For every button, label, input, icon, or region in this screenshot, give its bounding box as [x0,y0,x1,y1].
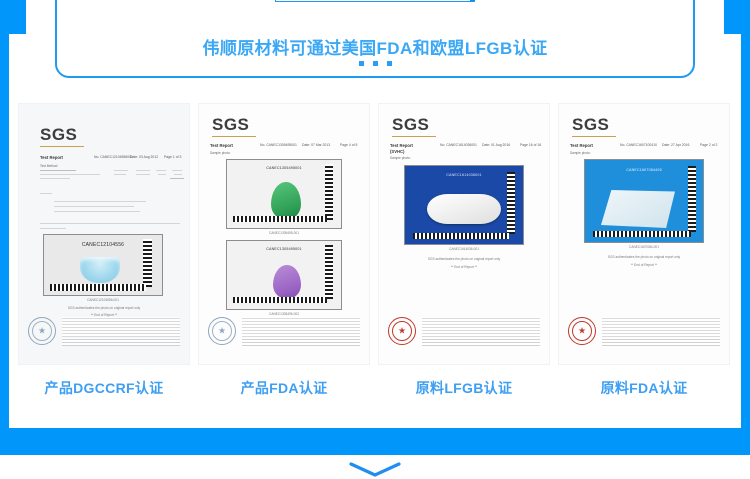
certificate-card[interactable]: SGS Test Report No. CANEC1305495001 Date… [198,103,370,365]
sample-photo-caption: CANEC12104556-001 [43,298,163,302]
footer-contact-block [242,338,360,346]
report-page: Page 2 of 2 [700,143,717,147]
seal-stamp-icon: ★ [568,317,596,345]
report-date: Date: 07 Mar 2013 [302,143,330,147]
text-line [156,170,166,171]
report-subtitle: Test Method [40,164,57,168]
dot-icon [359,61,364,66]
text-line [40,174,100,175]
sample-photo: CANEC1305495001 [226,159,342,229]
sample-photo: CANEC1607084405 [584,159,704,243]
end-of-report-note: ** End of Report ** [558,263,730,267]
report-subtitle: Sample photo: [210,151,231,155]
dot-icon [373,61,378,66]
text-line [172,170,182,171]
sgs-logo: SGS [40,125,77,145]
banner-title-box: 权威机构认证 [275,0,475,2]
report-number: No. CANEC12104556001 [94,155,133,159]
report-date: Date: 03 Aug 2012 [130,155,158,159]
certificate-footer-strip: ★ [388,315,540,349]
product-sheet-shape [601,190,675,228]
authentication-note: SGS authenticates the photo on original … [378,257,550,261]
sample-photo-secondary: CANEC1305495001 [226,240,342,310]
footer-text-block [62,317,180,337]
ruler-horizontal [593,231,691,237]
certificate-card[interactable]: SGS Test Report No. CANEC12104556001 Dat… [18,103,190,365]
sgs-logo: SGS [212,115,249,135]
report-page: Page 4 of 5 [340,143,357,147]
text-line [136,174,150,175]
ruler-vertical [507,172,515,234]
sample-photo-caption: CANEC1614036-001 [404,247,524,251]
product-cone-shape-green [271,182,301,220]
seal-stamp-icon: ★ [388,317,416,345]
ruler-vertical [143,239,152,287]
ruler-horizontal [413,233,509,239]
text-line [114,174,126,175]
report-number: No. CANEC1305495001 [260,143,297,147]
sample-photo-caption: CANEC1305495-001 [226,231,342,235]
text-line [54,211,140,212]
authentication-note: SGS authenticates the photo on original … [18,306,190,310]
text-line [174,174,182,175]
report-date: Date: 27 Apr 2016 [662,143,689,147]
footer-contact-block [602,338,720,346]
ruler-horizontal [50,284,146,291]
sample-photo-caption: CANEC1607084-001 [584,245,704,249]
text-line [54,201,146,202]
seal-star-icon: ★ [218,327,226,336]
sample-photo-code-secondary: CANEC1305495001 [227,247,341,251]
text-line [114,170,128,171]
report-number: No. CANEC1614036001 [440,143,477,147]
certificate-footer-strip: ★ [568,315,720,349]
text-line [40,178,70,179]
report-number: No. CANEC1607100410 [620,143,657,147]
sgs-logo-underline [40,146,84,147]
banner-dots [0,61,750,66]
seal-stamp-icon: ★ [28,317,56,345]
seal-star-icon: ★ [398,327,406,336]
report-subtitle: Sample photo: [570,151,591,155]
seal-star-icon: ★ [38,327,46,336]
certificate-grid: SGS Test Report No. CANEC12104556001 Dat… [18,103,732,365]
ruler-vertical [325,164,333,220]
page-edge-left [0,0,9,455]
authentication-note: SGS authenticates the photo on original … [558,255,730,259]
text-line [40,228,66,229]
report-title-secondary: (SVHC) [390,149,404,155]
certificate-caption: 原料LFGB认证 [378,370,550,406]
top-banner: 权威机构认证 伟顺原材料可通过美国FDA和欧盟LFGB认证 [0,0,750,80]
text-line [136,170,150,171]
ruler-vertical [688,166,696,232]
ruler-vertical [325,245,333,299]
seal-stamp-icon: ★ [208,317,236,345]
sgs-logo-underline [572,136,616,137]
text-line [40,193,52,194]
report-subtitle: Sample photo: [390,156,411,160]
report-title: Test Report [570,143,593,149]
sample-photo: CANEC1614036001 [404,165,524,245]
bottom-accent-bar [0,428,750,455]
certificate-card[interactable]: SGS Test Report No. CANEC1607100410 Date… [558,103,730,365]
sgs-logo-underline [392,136,436,137]
text-line [158,174,166,175]
page-edge-right [741,0,750,455]
footer-contact-block [62,338,180,346]
banner-subtitle: 伟顺原材料可通过美国FDA和欧盟LFGB认证 [0,34,750,59]
ruler-horizontal [233,216,327,222]
text-line [40,223,180,224]
footer-text-block [242,317,360,337]
certificate-footer-strip: ★ [208,315,360,349]
sgs-logo: SGS [392,115,429,135]
footer-text-block [602,317,720,337]
report-page: Page 16 of 16 [520,143,541,147]
sgs-logo: SGS [572,115,609,135]
text-line [40,170,76,171]
certificate-caption: 原料FDA认证 [558,370,730,406]
certificate-caption: 产品DGCCRF认证 [18,370,190,406]
ruler-horizontal [233,297,327,303]
product-drop-shape-purple [273,265,301,299]
sample-photo-code: CANEC1614036001 [405,173,523,177]
certificate-caption: 产品FDA认证 [198,370,370,406]
certificate-caption-row: 产品DGCCRF认证 产品FDA认证 原料LFGB认证 原料FDA认证 [18,370,732,406]
report-page: Page 1 of 3 [164,155,181,159]
report-title: Test Report [210,143,233,149]
scroll-down-chevron-icon[interactable] [347,462,403,477]
end-of-report-note: ** End of Report ** [378,265,550,269]
product-pill-shape-white [427,194,501,224]
product-bowl-shape [80,257,120,283]
certificate-card[interactable]: SGS Test Report (SVHC) No. CANEC16140360… [378,103,550,365]
sgs-logo-underline [212,136,256,137]
report-date: Date: 01 Aug 2016 [482,143,510,147]
report-title: Test Report [40,155,63,161]
sample-photo-code: CANEC1305495001 [227,166,341,170]
seal-star-icon: ★ [578,327,586,336]
footer-text-block [422,317,540,337]
sample-photo-code: CANEC1607084405 [585,168,703,172]
footer-contact-block [422,338,540,346]
certificate-footer-strip: ★ [28,315,180,349]
text-line [170,178,184,179]
sample-photo: CANEC12104556 [43,234,163,296]
title-box-accent-dot [470,0,475,2]
dot-icon [387,61,392,66]
text-line [54,206,134,207]
